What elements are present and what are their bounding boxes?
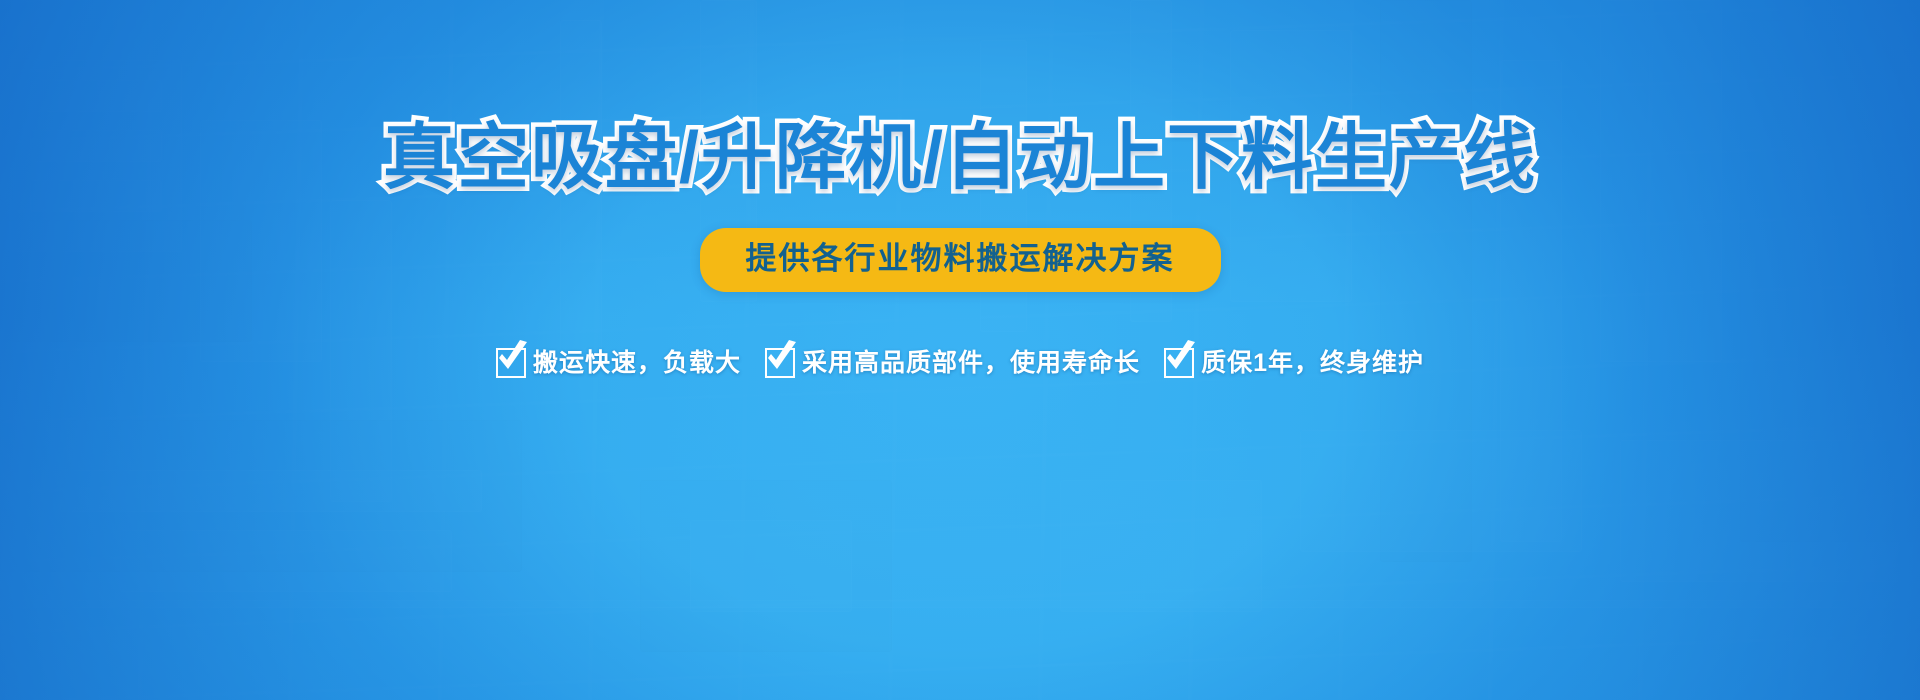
check-icon <box>496 348 526 378</box>
feature-label: 质保1年，终身维护 <box>1201 351 1424 376</box>
feature-label: 采用高品质部件，使用寿命长 <box>802 351 1140 376</box>
banner-subtitle-badge: 提供各行业物料搬运解决方案 <box>700 228 1221 292</box>
hero-banner: 真空吸盘/升降机/自动上下料生产线 提供各行业物料搬运解决方案 搬运快速，负载大 <box>0 0 1920 700</box>
check-icon <box>1164 348 1194 378</box>
banner-headline: 真空吸盘/升降机/自动上下料生产线 <box>383 122 1537 194</box>
feature-list: 搬运快速，负载大 采用高品质部件，使用寿命长 质保1 <box>496 348 1424 378</box>
check-icon <box>765 348 795 378</box>
banner-content: 真空吸盘/升降机/自动上下料生产线 提供各行业物料搬运解决方案 搬运快速，负载大 <box>0 0 1920 700</box>
feature-item: 质保1年，终身维护 <box>1164 348 1424 378</box>
feature-item: 搬运快速，负载大 <box>496 348 741 378</box>
feature-label: 搬运快速，负载大 <box>533 351 741 376</box>
feature-item: 采用高品质部件，使用寿命长 <box>765 348 1140 378</box>
